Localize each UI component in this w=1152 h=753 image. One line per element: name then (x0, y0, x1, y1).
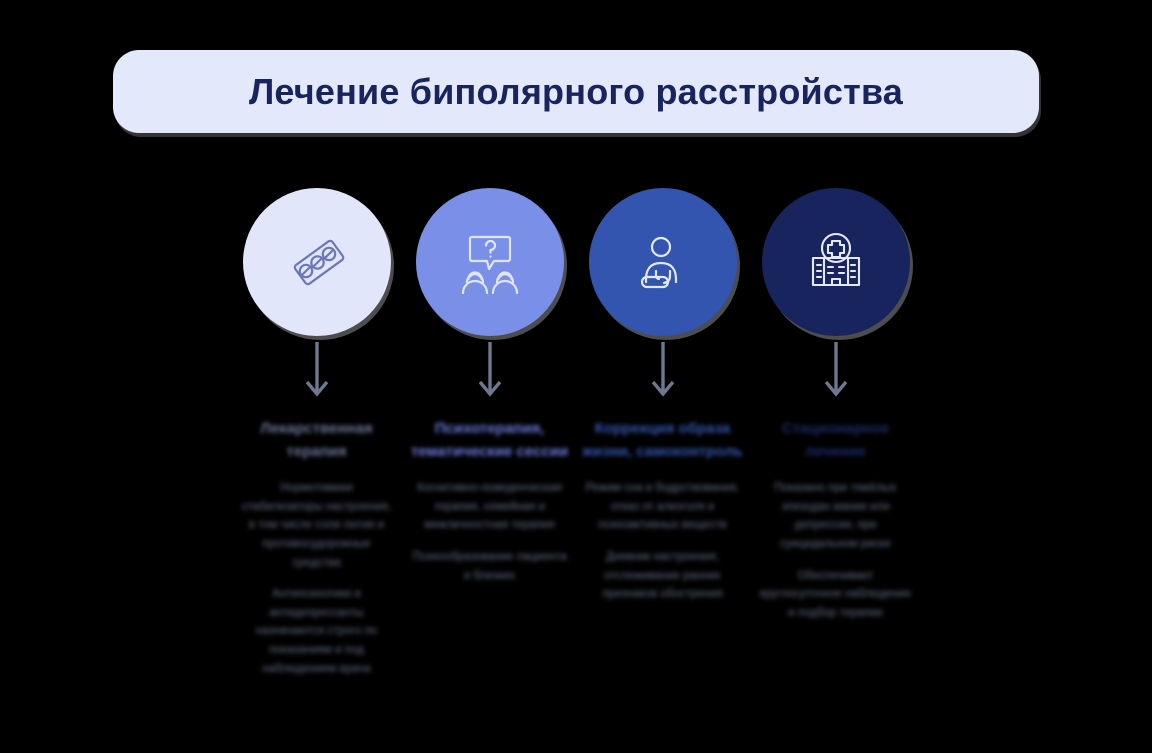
column-paragraph: Психообразование пациента и близких (412, 548, 568, 585)
icon-circle-2 (416, 188, 564, 336)
icon-circle-1 (243, 188, 391, 336)
treatment-columns: Лекарственная терапия Нормотимики стабил… (230, 188, 922, 728)
column-paragraph: Обеспечивает круглосуточное наблюдение и… (758, 567, 914, 623)
icon-circle-4 (762, 188, 910, 336)
circle-wrap-3 (589, 188, 737, 336)
hospital-building-icon (799, 225, 873, 299)
page-title: Лечение биполярного расстройства (249, 71, 903, 113)
column-body-3: Режим сна и бодрствования, отказ от алко… (585, 479, 741, 604)
icon-circle-3 (589, 188, 737, 336)
treatment-column-2: Психотерапия, тематические сессии Когнит… (403, 188, 576, 728)
column-paragraph: Нормотимики стабилизаторы настроения, в … (239, 479, 395, 572)
arrow-connector-4 (816, 342, 856, 404)
circle-wrap-4 (762, 188, 910, 336)
column-heading-2: Психотерапия, тематические сессии (406, 418, 574, 463)
circle-wrap-1 (243, 188, 391, 336)
column-body-1: Нормотимики стабилизаторы настроения, в … (239, 479, 395, 678)
column-paragraph: Когнитивно-поведенческая терапия, семейн… (412, 479, 568, 535)
column-paragraph: Дневник настроения, отслеживание ранних … (585, 548, 741, 604)
infographic-canvas: Лечение биполярного расстройства (0, 0, 1152, 753)
arrow-connector-3 (643, 342, 683, 404)
treatment-column-3: Коррекция образа жизни, самоконтроль Реж… (576, 188, 749, 728)
column-paragraph: Показано при тяжёлых эпизодах мании или … (758, 479, 914, 554)
pill-blister-pack-icon (280, 225, 354, 299)
column-body-4: Показано при тяжёлых эпизодах мании или … (758, 479, 914, 622)
column-body-2: Когнитивно-поведенческая терапия, семейн… (412, 479, 568, 585)
meditating-person-icon (626, 225, 700, 299)
treatment-column-1: Лекарственная терапия Нормотимики стабил… (230, 188, 403, 728)
treatment-column-4: Стационарное лечение Показано при тяжёлы… (749, 188, 922, 728)
column-paragraph: Режим сна и бодрствования, отказ от алко… (585, 479, 741, 535)
column-heading-4: Стационарное лечение (752, 418, 920, 463)
title-banner: Лечение биполярного расстройства (113, 50, 1039, 133)
counseling-session-icon (453, 225, 527, 299)
circle-wrap-2 (416, 188, 564, 336)
column-paragraph: Антипсихотики и антидепрессанты назначаю… (239, 585, 395, 678)
column-heading-3: Коррекция образа жизни, самоконтроль (579, 418, 747, 463)
arrow-connector-2 (470, 342, 510, 404)
arrow-connector-1 (297, 342, 337, 404)
column-heading-1: Лекарственная терапия (233, 418, 401, 463)
